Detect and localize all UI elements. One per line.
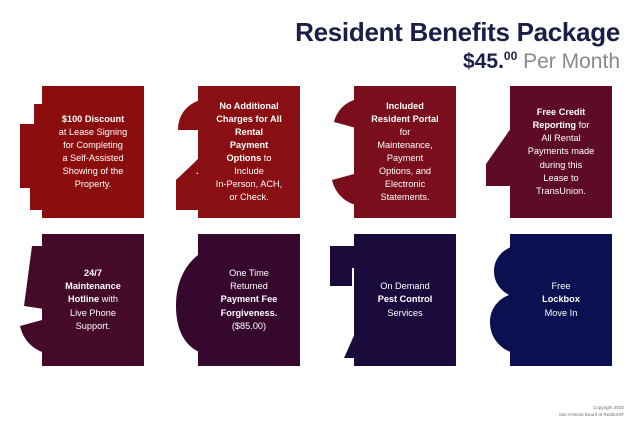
- benefit-6-line4: Forgiveness.: [221, 308, 278, 318]
- benefit-3-line2: Resident Portal: [371, 114, 438, 124]
- price-dollars: $45.: [463, 50, 504, 73]
- benefits-grid: $100 Discount at Lease Signing for Compl…: [0, 86, 640, 386]
- benefit-5-line4: Live Phone: [70, 308, 116, 318]
- benefit-5-line1: 24/7: [84, 268, 102, 278]
- benefit-6-line5: ($85.00): [232, 321, 266, 331]
- benefit-1-line5: Showing of the: [63, 166, 124, 176]
- benefit-4-line2: Reporting: [533, 120, 576, 130]
- benefit-5-line3b: with: [99, 294, 118, 304]
- benefit-2-line5b: to: [261, 153, 271, 163]
- benefit-2-line8: or Check.: [229, 192, 268, 202]
- benefit-8-line3: Move In: [545, 308, 578, 318]
- benefit-card-6-body: One Time Returned Payment Fee Forgivenes…: [198, 234, 300, 366]
- benefit-card-7-text: On Demand Pest Control Services: [360, 280, 450, 319]
- benefit-2-line1: No Additional: [219, 101, 278, 111]
- benefit-2-line3: Rental: [235, 127, 263, 137]
- benefit-3-line1: Included: [386, 101, 424, 111]
- benefit-8-line1: Free: [552, 281, 571, 291]
- benefit-card-1-body: $100 Discount at Lease Signing for Compl…: [42, 86, 144, 218]
- benefit-7-line1: On Demand: [380, 281, 430, 291]
- benefit-4-line5: during this: [540, 160, 582, 170]
- benefit-3-line7: Electronic: [385, 179, 425, 189]
- benefit-1-line6: Property.: [75, 179, 112, 189]
- benefit-1-line3: for Completing: [63, 140, 123, 150]
- benefit-8-line2: Lockbox: [542, 294, 580, 304]
- price-amount: $45.00: [463, 50, 517, 73]
- header: Resident Benefits Package $45.00 Per Mon…: [295, 18, 620, 73]
- benefit-2-line7: In-Person, ACH,: [216, 179, 282, 189]
- infographic-root: Resident Benefits Package $45.00 Per Mon…: [0, 0, 640, 427]
- price-cents: 00: [504, 49, 517, 63]
- benefit-4-line1: Free Credit: [537, 107, 586, 117]
- benefit-7-line2: Pest Control: [378, 294, 433, 304]
- benefit-6-line2: Returned: [230, 281, 268, 291]
- benefit-1-line2: at Lease Signing: [59, 127, 127, 137]
- benefit-3-line8: Statements.: [380, 192, 429, 202]
- benefit-card-4-text: Free Credit Reporting for All Rental Pay…: [516, 106, 606, 197]
- benefit-7-line3: Services: [387, 308, 422, 318]
- benefit-3-line4: Maintenance,: [377, 140, 432, 150]
- benefit-3-line3: for: [400, 127, 411, 137]
- benefit-card-8-body: Free Lockbox Move In: [510, 234, 612, 366]
- price-period: Per Month: [517, 50, 620, 73]
- benefit-card-4-body: Free Credit Reporting for All Rental Pay…: [510, 86, 612, 218]
- price-line: $45.00 Per Month: [295, 50, 620, 73]
- copyright-org: San Antonio Board of Realtors®: [559, 412, 624, 419]
- benefit-card-6-text: One Time Returned Payment Fee Forgivenes…: [204, 267, 294, 332]
- benefit-2-line6: Include: [234, 166, 264, 176]
- benefit-1-line1: $100 Discount: [62, 114, 124, 124]
- benefit-card-2-text: No Additional Charges for All Rental Pay…: [204, 100, 294, 205]
- benefit-2-line5: Options: [227, 153, 262, 163]
- benefit-5-line5: Support.: [76, 321, 111, 331]
- benefit-2-line2: Charges for All: [216, 114, 282, 124]
- benefit-card-3-text: Included Resident Portal for Maintenance…: [360, 100, 450, 205]
- benefit-1-line4: a Self-Assisted: [62, 153, 123, 163]
- benefit-3-line6: Options, and: [379, 166, 431, 176]
- benefit-card-7-body: On Demand Pest Control Services: [354, 234, 456, 366]
- benefit-4-line6: Lease to: [543, 173, 578, 183]
- benefit-4-line7: TransUnion.: [536, 186, 586, 196]
- benefit-4-line3: All Rental: [541, 133, 580, 143]
- benefit-5-line2: Maintenance: [65, 281, 121, 291]
- benefit-4-line2b: for: [576, 120, 589, 130]
- benefit-card-1-text: $100 Discount at Lease Signing for Compl…: [48, 113, 138, 191]
- benefit-card-5-body: 24/7 Maintenance Hotline with Live Phone…: [42, 234, 144, 366]
- page-title: Resident Benefits Package: [295, 18, 620, 47]
- benefit-6-line1: One Time: [229, 268, 269, 278]
- footer-copyright: Copyright 2020 San Antonio Board of Real…: [559, 405, 624, 419]
- benefit-card-3-body: Included Resident Portal for Maintenance…: [354, 86, 456, 218]
- benefit-card-5-text: 24/7 Maintenance Hotline with Live Phone…: [48, 267, 138, 332]
- benefit-card-2-body: No Additional Charges for All Rental Pay…: [198, 86, 300, 218]
- benefit-5-line3: Hotline: [68, 294, 99, 304]
- benefit-card-8-text: Free Lockbox Move In: [516, 280, 606, 319]
- benefit-4-line4: Payments made: [528, 146, 594, 156]
- benefit-3-line5: Payment: [387, 153, 423, 163]
- benefit-6-line3: Payment Fee: [221, 294, 278, 304]
- benefit-2-line4: Payment: [230, 140, 268, 150]
